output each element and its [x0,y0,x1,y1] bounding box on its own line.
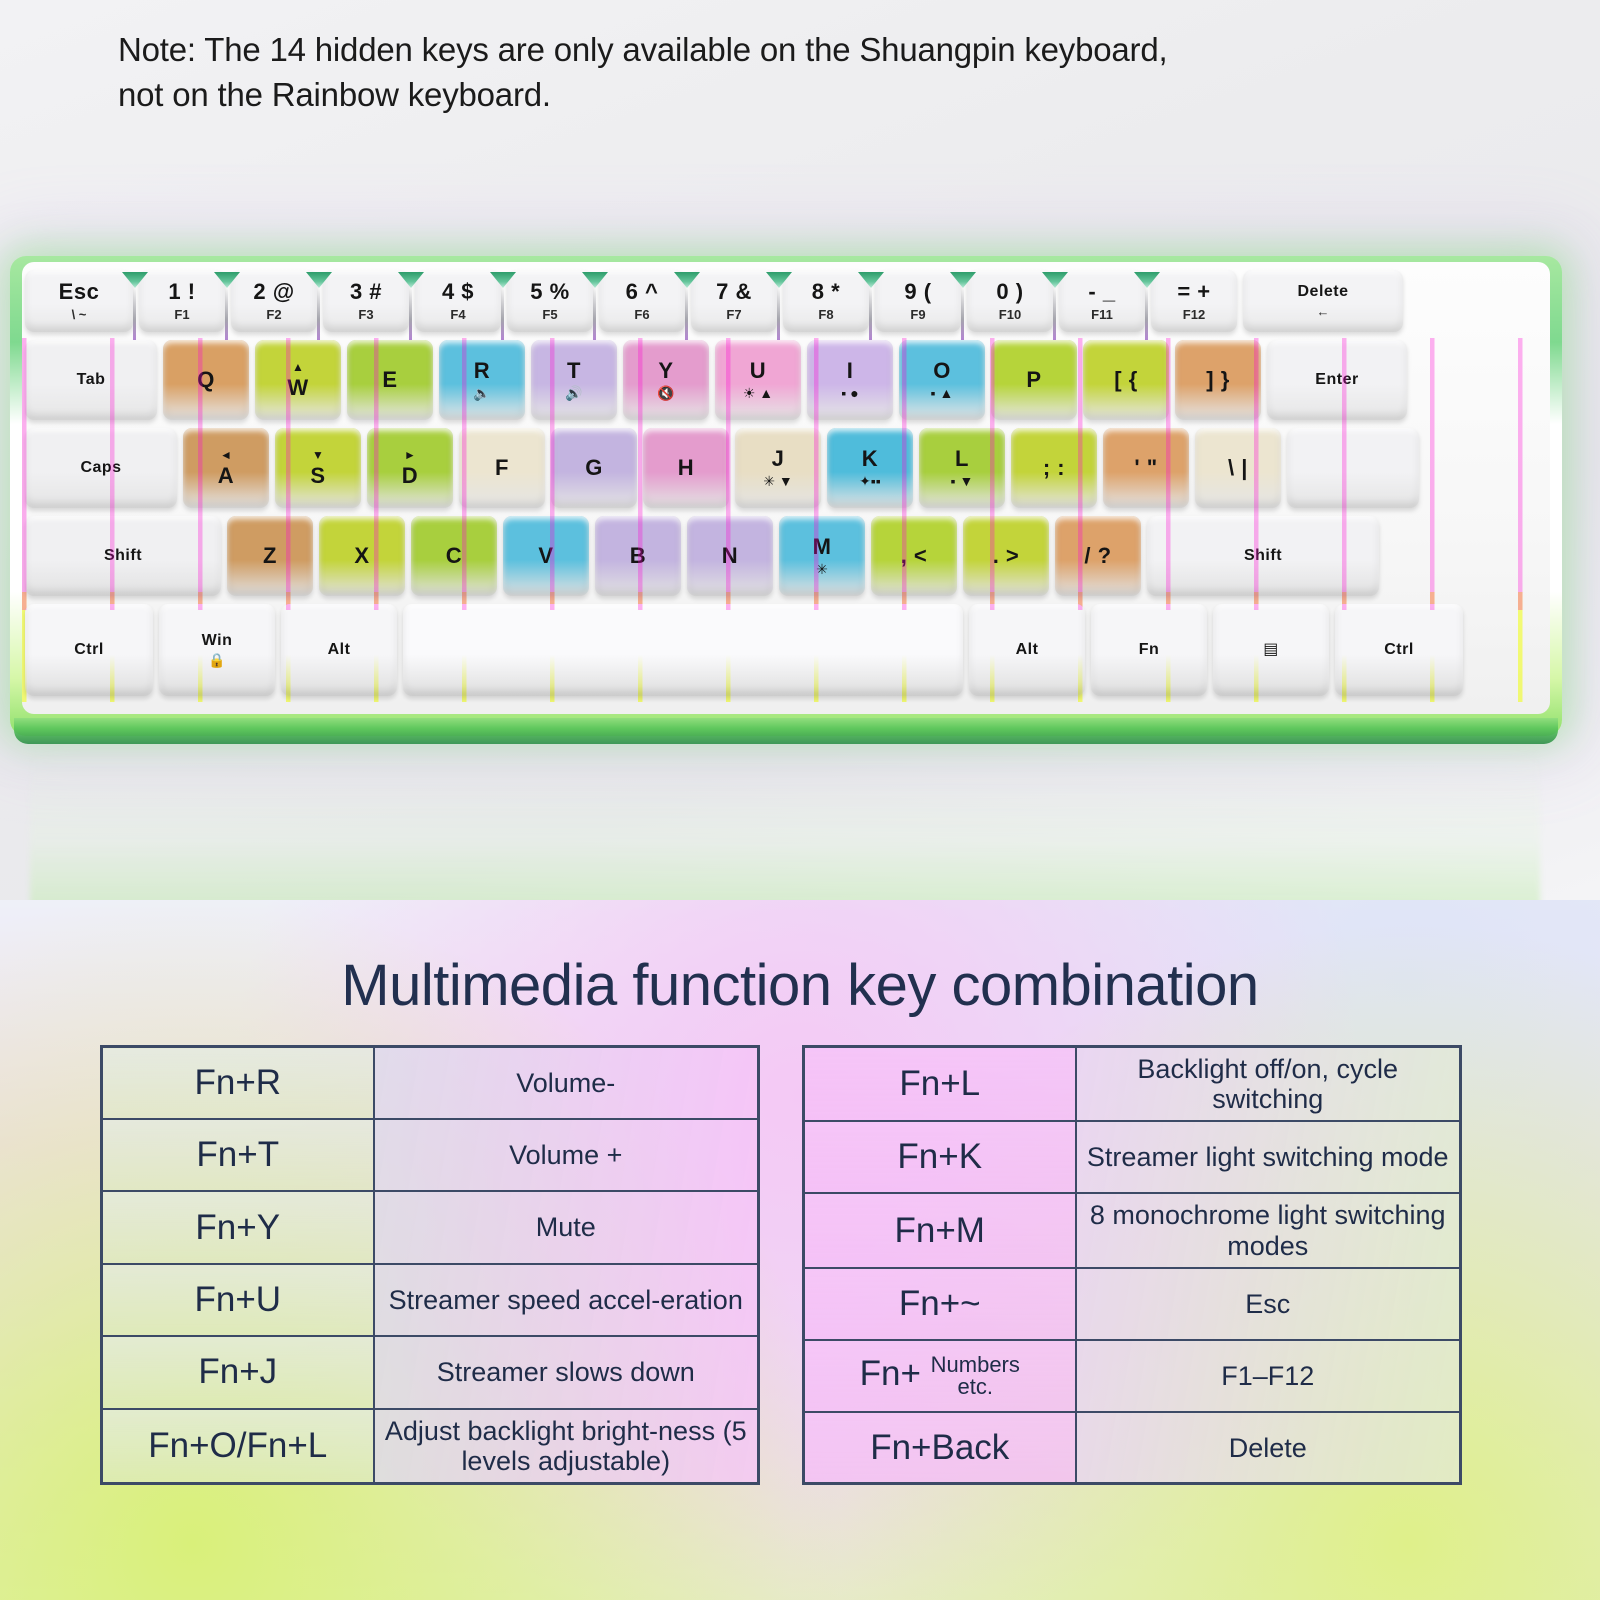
key-h[interactable]: H [643,428,729,508]
key-b-label: B [630,545,646,567]
right-combo-5: Fn+Back [804,1412,1076,1484]
key-quote[interactable]: ' " [1103,428,1189,508]
key-v[interactable]: V [503,516,589,596]
key-g-label: G [585,457,603,479]
key-alt-right[interactable]: Alt [969,604,1085,696]
key-win-function-icon: 🔒 [208,653,225,667]
key-minus-sublabel: F11 [1091,308,1113,321]
key-caps-label: Caps [80,460,121,476]
key-2-label: 2 @ [253,281,294,303]
key-n[interactable]: N [687,516,773,596]
key-v-label: V [538,545,553,567]
key-slash[interactable]: / ? [1055,516,1141,596]
table-row: Fn+YMute [102,1191,759,1263]
key-t[interactable]: T🔊 [531,340,617,420]
multimedia-table-right: Fn+LBacklight off/on, cycle switchingFn+… [802,1045,1462,1485]
right-desc-0: Backlight off/on, cycle switching [1076,1047,1461,1122]
key-b[interactable]: B [595,516,681,596]
key-delete[interactable]: Delete← [1243,270,1403,332]
key-u[interactable]: U☀ ▲ [715,340,801,420]
key-c-label: C [446,545,462,567]
key-t-function-icon: 🔊 [565,386,582,400]
key-7[interactable]: 7 &F7 [691,270,777,332]
key-l[interactable]: L▪ ▼ [919,428,1005,508]
key-esc[interactable]: Esc\ ~ [25,270,133,332]
key-d-arrow-icon: ► [404,449,416,461]
key-o-label: O [933,360,951,382]
key-n-label: N [722,545,738,567]
key-3-label: 3 # [350,281,382,303]
key-win-label: Win [202,633,233,649]
key-comma-label: , < [901,545,928,567]
key-o[interactable]: O▪ ▲ [899,340,985,420]
key-e[interactable]: E [347,340,433,420]
key-2-sublabel: F2 [266,308,281,321]
key-9[interactable]: 9 (F9 [875,270,961,332]
key-4[interactable]: 4 $F4 [415,270,501,332]
table-row: Fn+LBacklight off/on, cycle switching [804,1047,1461,1122]
key-shift-left[interactable]: Shift [25,516,221,596]
keyboard-body: Esc\ ~1 !F12 @F23 #F34 $F45 %F56 ^F67 &F… [22,262,1550,714]
key-a-label: A [218,465,234,487]
key-i-function-icon: ▪ ● [841,386,858,400]
key-r-function-icon: 🔈 [473,386,490,400]
key-a[interactable]: ◄A [183,428,269,508]
key-a-arrow-icon: ◄ [220,449,232,461]
key-4-sublabel: F4 [450,308,465,321]
key-period[interactable]: . > [963,516,1049,596]
key-z[interactable]: Z [227,516,313,596]
key-1-label: 1 ! [168,281,195,303]
key-z-label: Z [263,545,277,567]
key-8[interactable]: 8 *F8 [783,270,869,332]
multimedia-tables: Fn+RVolume-Fn+TVolume +Fn+YMuteFn+UStrea… [0,1045,1600,1485]
key-w-arrow-icon: ▲ [292,361,304,373]
key-c[interactable]: C [411,516,497,596]
key-3-sublabel: F3 [358,308,373,321]
keyboard-row-3: ShiftZXCVBNM✳, <. >/ ?Shift [22,516,1550,602]
key-alt-left[interactable]: Alt [281,604,397,696]
key-r[interactable]: R🔈 [439,340,525,420]
left-combo-0: Fn+R [102,1047,374,1119]
left-combo-2: Fn+Y [102,1191,374,1263]
keyboard-row-4: CtrlWin🔒AltAltFn▤Ctrl [22,604,1550,704]
key-equal[interactable]: = +F12 [1151,270,1237,332]
key-equal-label: = + [1177,281,1210,303]
key-f[interactable]: F [459,428,545,508]
table-row: Fn+ Numbersetc.F1–F12 [804,1340,1461,1412]
key-tab[interactable]: Tab [25,340,157,420]
key-shift-left-label: Shift [104,548,142,564]
key-k-label: K [862,448,878,470]
key-delete-label: Delete [1297,284,1348,300]
table-row: Fn+JStreamer slows down [102,1336,759,1408]
key-e-label: E [382,369,397,391]
keyboard-row-0: Esc\ ~1 !F12 @F23 #F34 $F45 %F56 ^F67 &F… [22,270,1550,336]
key-u-function-icon: ☀ ▲ [743,386,773,400]
key-y-function-icon: 🔇 [657,386,674,400]
key-1[interactable]: 1 !F1 [139,270,225,332]
keyboard-image: Esc\ ~1 !F12 @F23 #F34 $F45 %F56 ^F67 &F… [0,248,1600,768]
right-combo-4-suffix: Numbersetc. [931,1354,1020,1399]
key-9-sublabel: F9 [910,308,925,321]
key-enter-label: Enter [1315,372,1358,388]
key-period-label: . > [993,545,1020,567]
table-row: Fn+RVolume- [102,1047,759,1119]
key-minus[interactable]: - _F11 [1059,270,1145,332]
key-lbracket[interactable]: [ { [1083,340,1169,420]
table-row: Fn+TVolume + [102,1119,759,1191]
key-6-label: 6 ^ [626,281,659,303]
key-ctrl-left[interactable]: Ctrl [25,604,153,696]
key-l-label: L [955,448,969,470]
right-desc-1: Streamer light switching mode [1076,1121,1461,1193]
note-line-1: Note: The 14 hidden keys are only availa… [118,28,1418,73]
left-combo-1: Fn+T [102,1119,374,1191]
multimedia-title: Multimedia function key combination [0,952,1600,1019]
key-d[interactable]: ►D [367,428,453,508]
table-row: Fn+~Esc [804,1268,1461,1340]
left-desc-2: Mute [374,1191,759,1263]
keyboard-photo-section: Note: The 14 hidden keys are only availa… [0,0,1600,900]
key-s-arrow-icon: ▼ [312,449,324,461]
table-row: Fn+O/Fn+LAdjust backlight bright-ness (5… [102,1409,759,1484]
table-row: Fn+UStreamer speed accel-eration [102,1264,759,1336]
left-combo-4: Fn+J [102,1336,374,1408]
left-combo-3: Fn+U [102,1264,374,1336]
key-5-label: 5 % [530,281,569,303]
right-combo-0: Fn+L [804,1047,1076,1122]
key-s[interactable]: ▼S [275,428,361,508]
key-fn-label: Fn [1139,642,1160,658]
key-7-label: 7 & [716,281,752,303]
key-h-label: H [678,457,694,479]
key-caps[interactable]: Caps [25,428,177,508]
key-k[interactable]: K✦▪▪ [827,428,913,508]
key-0[interactable]: 0 )F10 [967,270,1053,332]
key-enter[interactable]: Enter [1267,340,1407,420]
keyboard-keys: Esc\ ~1 !F12 @F23 #F34 $F45 %F56 ^F67 &F… [22,262,1550,714]
key-tab-label: Tab [77,372,106,388]
table-row: Fn+M8 monochrome light switching modes [804,1193,1461,1267]
key-slash-label: / ? [1084,545,1111,567]
key-4-label: 4 $ [442,281,474,303]
key-j-label: J [772,448,785,470]
key-s-label: S [310,465,325,487]
keyboard-reflection [30,748,1540,918]
key-p[interactable]: P [991,340,1077,420]
key-backslash[interactable]: \ | [1195,428,1281,508]
right-combo-4: Fn+ Numbersetc. [804,1340,1076,1412]
right-desc-3: Esc [1076,1268,1461,1340]
key-g[interactable]: G [551,428,637,508]
key-6-sublabel: F6 [634,308,649,321]
key-win[interactable]: Win🔒 [159,604,275,696]
left-desc-5: Adjust backlight bright-ness (5 levels a… [374,1409,759,1484]
key-k-function-icon: ✦▪▪ [859,474,881,488]
note-text: Note: The 14 hidden keys are only availa… [118,28,1418,117]
key-y[interactable]: Y🔇 [623,340,709,420]
multimedia-table-left: Fn+RVolume-Fn+TVolume +Fn+YMuteFn+UStrea… [100,1045,760,1485]
key-ctrl-right[interactable]: Ctrl [1335,604,1463,696]
key-backslash-label: \ | [1228,457,1248,479]
keyboard-row-1: TabQ▲WER🔈T🔊Y🔇U☀ ▲I▪ ●O▪ ▲P[ {] }Enter [22,340,1550,426]
key-m-label: M [813,536,832,558]
keyboard-row-2: Caps◄A▼S►DFGHJ✳ ▼K✦▪▪L▪ ▼; :' "\ | [22,428,1550,514]
right-combo-4-prefix: Fn+ [860,1354,921,1393]
left-desc-3: Streamer speed accel-eration [374,1264,759,1336]
key-3[interactable]: 3 #F3 [323,270,409,332]
key-0-label: 0 ) [996,281,1023,303]
right-desc-4: F1–F12 [1076,1340,1461,1412]
right-combo-1: Fn+K [804,1121,1076,1193]
key-rbracket-label: ] } [1206,369,1230,391]
note-line-2: not on the Rainbow keyboard. [118,73,1418,118]
key-quote-label: ' " [1134,457,1157,479]
key-q-label: Q [197,369,215,391]
key-menu-label: ▤ [1263,642,1279,658]
key-semicolon[interactable]: ; : [1011,428,1097,508]
key-minus-label: - _ [1088,281,1115,303]
left-desc-0: Volume- [374,1047,759,1119]
right-combo-2: Fn+M [804,1193,1076,1267]
right-desc-5: Delete [1076,1412,1461,1484]
key-1-sublabel: F1 [174,308,189,321]
table-row: Fn+KStreamer light switching mode [804,1121,1461,1193]
key-6[interactable]: 6 ^F6 [599,270,685,332]
key-ctrl-left-label: Ctrl [74,642,104,658]
key-x[interactable]: X [319,516,405,596]
key-9-label: 9 ( [904,281,931,303]
key-r-label: R [474,360,490,382]
key-8-label: 8 * [812,281,840,303]
key-rbracket[interactable]: ] } [1175,340,1261,420]
left-desc-1: Volume + [374,1119,759,1191]
key-delete-sublabel: ← [1317,305,1330,318]
product-infographic: Note: The 14 hidden keys are only availa… [0,0,1600,1600]
key-5[interactable]: 5 %F5 [507,270,593,332]
key-equal-sublabel: F12 [1183,308,1205,321]
key-lbracket-label: [ { [1114,369,1138,391]
key-u-label: U [750,360,766,382]
table-row: Fn+BackDelete [804,1412,1461,1484]
left-desc-4: Streamer slows down [374,1336,759,1408]
right-combo-3: Fn+~ [804,1268,1076,1340]
key-t-label: T [567,360,581,382]
key-m-function-icon: ✳ [816,562,828,576]
key-w[interactable]: ▲W [255,340,341,420]
key-i[interactable]: I▪ ● [807,340,893,420]
key-o-function-icon: ▪ ▲ [931,386,954,400]
key-7-sublabel: F7 [726,308,741,321]
key-8-sublabel: F8 [818,308,833,321]
key-alt-right-label: Alt [1016,642,1039,658]
key-d-label: D [402,465,418,487]
key-q[interactable]: Q [163,340,249,420]
multimedia-section: Multimedia function key combination Fn+R… [0,900,1600,1600]
key-semicolon-label: ; : [1043,457,1065,479]
key-enter-lower[interactable] [1287,428,1419,508]
key-i-label: I [847,360,854,382]
key-l-function-icon: ▪ ▼ [951,474,974,488]
key-y-label: Y [658,360,673,382]
right-desc-2: 8 monochrome light switching modes [1076,1193,1461,1267]
keyboard-base-edge [14,718,1558,744]
key-5-sublabel: F5 [542,308,557,321]
key-comma[interactable]: , < [871,516,957,596]
key-esc-sublabel: \ ~ [72,308,87,321]
key-p-label: P [1026,369,1041,391]
key-j[interactable]: J✳ ▼ [735,428,821,508]
key-x-label: X [354,545,369,567]
key-2[interactable]: 2 @F2 [231,270,317,332]
key-esc-label: Esc [59,281,100,303]
key-f-label: F [495,457,509,479]
key-0-sublabel: F10 [999,308,1021,321]
key-ctrl-right-label: Ctrl [1384,642,1414,658]
key-menu[interactable]: ▤ [1213,604,1329,696]
key-j-function-icon: ✳ ▼ [763,474,792,488]
key-w-label: W [287,377,308,399]
key-shift-right[interactable]: Shift [1147,516,1379,596]
key-alt-left-label: Alt [328,642,351,658]
left-combo-5: Fn+O/Fn+L [102,1409,374,1484]
key-shift-right-label: Shift [1244,548,1282,564]
key-m[interactable]: M✳ [779,516,865,596]
key-fn[interactable]: Fn [1091,604,1207,696]
key-space[interactable] [403,604,963,696]
